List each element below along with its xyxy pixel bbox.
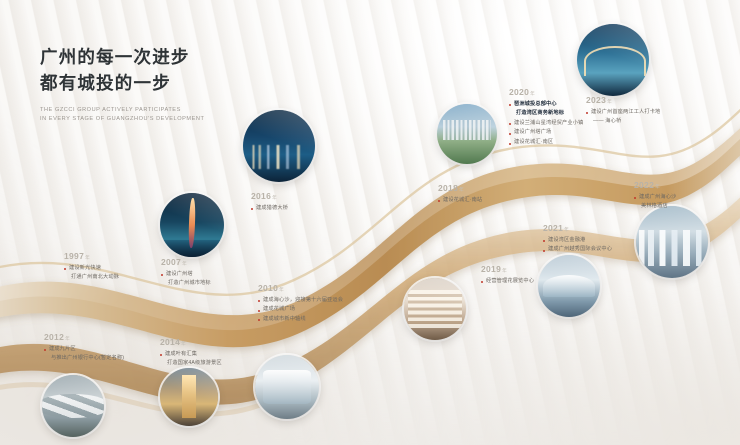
milestone-m-2023[interactable]: 2023年 建设广州首座两江工人打卡地 —— 海心桥 [586, 96, 660, 127]
milestone-item: 建设花城汇·南站 [438, 196, 482, 206]
milestone-m-2012[interactable]: 2012年 建成九片区 与推出广州银行中心(暂定名称) [44, 333, 124, 364]
photo-waterfront-city-image [636, 206, 708, 278]
milestone-year: 2016年 [251, 192, 288, 201]
milestone-year: 2019年 [481, 265, 534, 274]
photo-mall-interior-image [404, 278, 466, 340]
milestone-year: 1997年 [64, 252, 119, 261]
photo-interchange-road-image [42, 375, 104, 437]
page-subtitle-line2: IN EVERY STAGE OF GUANGZHOU'S DEVELOPMEN… [40, 115, 204, 125]
milestone-item: 经营管理花展览中心 [481, 277, 534, 287]
milestone-item: 建设广州塔 [161, 270, 211, 280]
photo-golden-tower[interactable] [160, 368, 218, 426]
milestone-item-featured: 打造湾区商务新地标 [509, 109, 583, 119]
milestone-year: 2018年 [438, 184, 482, 193]
milestone-m-2010[interactable]: 2010年 建成海心沙，迎接第十六届亚运会 建成花城广场 建成城市新中轴线 [258, 284, 343, 324]
milestone-item: 建设广州塔广场 [509, 128, 583, 138]
milestone-m-2020[interactable]: 2020年 琶洲城投总部中心 打造湾区商务新地标 建设兰浦山星湾经贸产业小镇 建… [509, 88, 583, 148]
photo-mall-interior[interactable] [404, 278, 466, 340]
milestone-m-2007[interactable]: 2007年 建设广州塔 打造广州城市地标 [161, 258, 211, 289]
page-title-line2: 都有城投的一步 [40, 70, 204, 96]
milestone-item: 建设兰浦山星湾经贸产业小镇 [509, 119, 583, 129]
milestone-item: 美林格酒店 [634, 202, 676, 212]
milestone-item: 建成叶有汇集 [160, 350, 222, 360]
photo-canton-tower[interactable] [160, 193, 224, 257]
milestone-m-2021[interactable]: 2021年 建设湾区金融港 建成广州越秀国际会议中心 [543, 224, 612, 255]
milestone-item: 建成城市新中轴线 [258, 315, 343, 325]
milestone-item-featured: 琶洲城投总部中心 [509, 100, 583, 110]
photo-green-campus-image [437, 104, 497, 164]
milestone-item: 打造广州城市地标 [161, 279, 211, 289]
milestone-item: 打通广州南北大动脉 [64, 273, 119, 283]
milestone-year: 2020年 [509, 88, 583, 97]
milestone-item: 建设广州首座两江工人打卡地 [586, 108, 660, 118]
milestone-year: 2010年 [258, 284, 343, 293]
ribbon-main-highlight [0, 112, 740, 330]
milestone-year: 2007年 [161, 258, 211, 267]
milestone-year: 2014年 [160, 338, 222, 347]
milestone-year: 2023年 [586, 96, 660, 105]
milestone-item: 建成九片区 [44, 345, 124, 355]
infographic-canvas: 广州的每一次进步 都有城投的一步 THE GZCCI GROUP ACTIVEL… [0, 0, 740, 445]
milestone-item: 打造国家4A级旅游景区 [160, 359, 222, 369]
photo-haixin-bridge[interactable] [577, 24, 649, 96]
milestone-item: 建设新光快速 [64, 264, 119, 274]
milestone-m-2016[interactable]: 2016年 建成猎德大桥 [251, 192, 288, 213]
milestone-item: 建成广州海心沙 [634, 193, 676, 203]
milestone-m-2014[interactable]: 2014年 建成叶有汇集 打造国家4A级旅游景区 [160, 338, 222, 369]
milestone-item: 建成海心沙，迎接第十六届亚运会 [258, 296, 343, 306]
photo-waterfront-city[interactable] [636, 206, 708, 278]
milestone-year: 2012年 [44, 333, 124, 342]
photo-green-campus[interactable] [437, 104, 497, 164]
milestone-item: 与推出广州银行中心(暂定名称) [44, 354, 124, 364]
photo-interchange-road[interactable] [42, 375, 104, 437]
photo-haixin-bridge-image [577, 24, 649, 96]
milestone-item: 建成花城广场 [258, 305, 343, 315]
photo-city-towers-image [255, 355, 319, 419]
photo-golden-tower-image [160, 368, 218, 426]
page-subtitle-line1: THE GZCCI GROUP ACTIVELY PARTICIPATES [40, 106, 204, 116]
milestone-item: 建成猎德大桥 [251, 204, 288, 214]
milestone-m-2018[interactable]: 2018年 建设花城汇·南站 [438, 184, 482, 205]
milestone-m-2022[interactable]: 2022年 建成广州海心沙 美林格酒店 [634, 181, 676, 212]
milestone-item: 建设花城汇·南区 [509, 138, 583, 148]
milestone-year: 2021年 [543, 224, 612, 233]
milestone-m-2019[interactable]: 2019年 经营管理花展览中心 [481, 265, 534, 286]
milestone-item: 建设湾区金融港 [543, 236, 612, 246]
milestone-item: —— 海心桥 [586, 117, 660, 127]
photo-ferris-wheel-night-image [243, 110, 315, 182]
milestone-item: 建成广州越秀国际会议中心 [543, 245, 612, 255]
photo-ferris-wheel-night[interactable] [243, 110, 315, 182]
milestone-year: 2022年 [634, 181, 676, 190]
photo-city-towers[interactable] [255, 355, 319, 419]
header-block: 广州的每一次进步 都有城投的一步 THE GZCCI GROUP ACTIVEL… [40, 44, 204, 125]
photo-canton-tower-image [160, 193, 224, 257]
milestone-m-1997[interactable]: 1997年 建设新光快速 打通广州南北大动脉 [64, 252, 119, 283]
page-title-line1: 广州的每一次进步 [40, 44, 204, 70]
